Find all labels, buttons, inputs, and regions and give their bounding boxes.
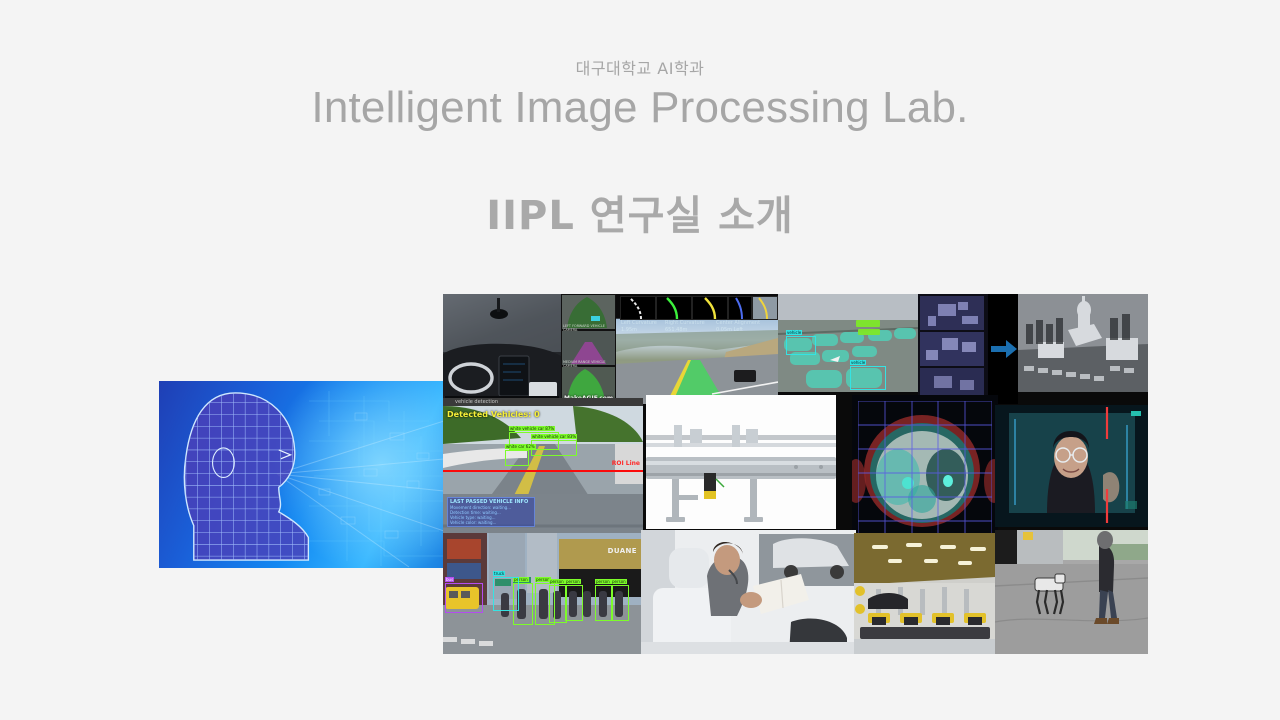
last-passed-vehicle-info: LAST PASSED VEHICLE INFO Movement direct… — [447, 497, 535, 527]
segmentation-box: vehicle — [786, 336, 816, 355]
slide-header: 대구대학교 AI학과 Intelligent Image Processing … — [0, 55, 1280, 134]
tile-warehouse-robotics-automation — [854, 533, 995, 654]
detection-box: person — [565, 585, 583, 621]
tile-face-recognition-portrait — [995, 405, 1148, 527]
detection-box: white car 62% — [505, 450, 529, 466]
segmentation-box: vehicle — [850, 366, 886, 390]
right-arrow-icon — [991, 338, 1017, 360]
tile-vehicle-detection-window[interactable]: vehicle detection Detected Vehicles: 0 w… — [443, 398, 643, 533]
registration-grid-icon — [858, 401, 992, 544]
tile-pedestrian-detection-street: DUANE person person person person person… — [443, 533, 641, 654]
storefront-sign: DUANE — [608, 547, 637, 555]
tile-3d-city-reconstruction — [1018, 294, 1148, 392]
detection-box: person — [611, 585, 629, 621]
tile-ct-mri-registration-overlay — [852, 395, 998, 550]
tile-quadruped-robot-following-person — [995, 530, 1148, 654]
department-name: 대구대학교 AI학과 — [0, 55, 1280, 79]
window-title-bar[interactable]: vehicle detection — [443, 398, 643, 406]
tile-pipeline-arrow — [988, 294, 1018, 404]
tile-satellite-aerial-tiles — [918, 294, 988, 404]
info-title: LAST PASSED VEHICLE INFO — [448, 498, 534, 505]
presentation-slide: 대구대학교 AI학과 Intelligent Image Processing … — [0, 0, 1280, 720]
tile-parking-lot-vehicle-segmentation: vehicle vehicle — [778, 294, 918, 392]
page-title: IIPL 연구실 소개 — [0, 183, 1280, 241]
wireframe-head-icon — [176, 388, 324, 560]
tile-lidar-sensor-feed-panels: LEFT FORWARD VEHICLE CAMERA MEDIUM RANGE… — [561, 294, 616, 404]
detection-box-truck: truck — [493, 577, 519, 611]
detection-box: white vehicle car 83% — [531, 440, 577, 456]
research-topics-collage: LEFT FORWARD VEHICLE CAMERA MEDIUM RANGE… — [443, 294, 1148, 654]
ai-wireframe-head-image — [159, 381, 444, 568]
detected-vehicles-counter: Detected Vehicles: 0 — [447, 410, 540, 419]
detection-box-bus: bus — [445, 583, 483, 613]
info-line: Vehicle color: waiting... — [448, 520, 534, 525]
tile-industrial-guardrail-inspection — [646, 395, 836, 529]
lab-name: Intelligent Image Processing Lab. — [0, 83, 1280, 134]
tile-tesla-cabin-night-drive — [443, 294, 561, 404]
tile-autonomous-vehicle-passenger — [641, 530, 856, 654]
roi-label: ROI Line — [612, 460, 640, 467]
window-title: vehicle detection — [443, 398, 643, 406]
tile-highway-lane-detection: Left Curvature1.95m Right Curvature651.4… — [616, 294, 778, 404]
roi-line — [443, 470, 643, 472]
